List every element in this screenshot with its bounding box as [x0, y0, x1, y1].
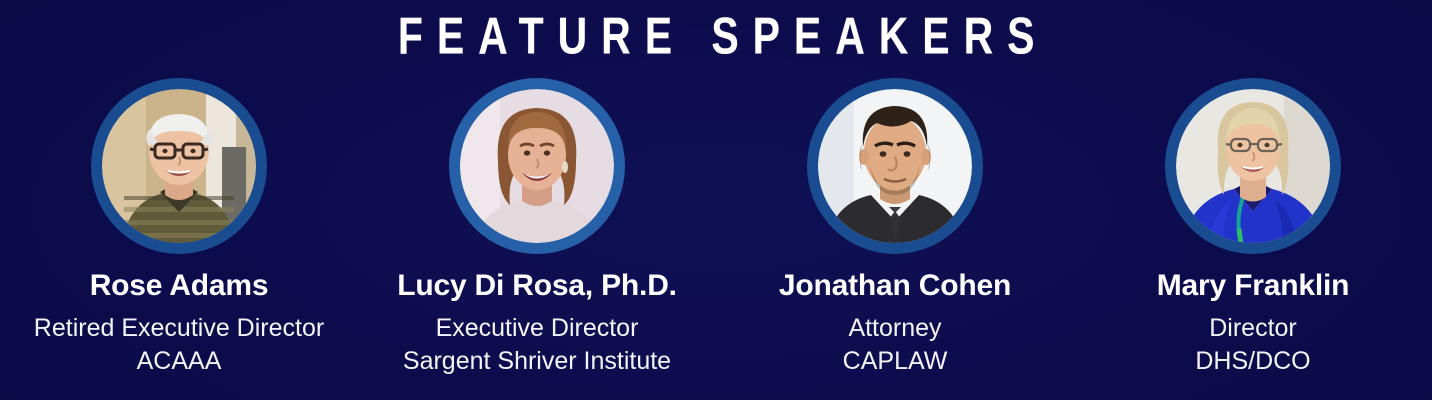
avatar-ring — [1165, 78, 1341, 254]
feature-speakers-banner: FEATURE SPEAKERS — [0, 0, 1432, 400]
speaker-text: Lucy Di Rosa, Ph.D. Executive Director S… — [358, 268, 716, 378]
speaker-role: Director — [1074, 312, 1432, 345]
page-title: FEATURE SPEAKERS — [384, 7, 1049, 65]
avatar-ring — [449, 78, 625, 254]
speaker-text: Jonathan Cohen Attorney CAPLAW — [716, 268, 1074, 378]
speaker-card: Lucy Di Rosa, Ph.D. Executive Director S… — [358, 78, 716, 378]
speaker-name: Mary Franklin — [1074, 268, 1432, 304]
speaker-text: Mary Franklin Director DHS/DCO — [1074, 268, 1432, 378]
portrait-lucy-di-rosa — [460, 89, 614, 243]
portrait-mary-franklin — [1176, 89, 1330, 243]
banner-title-row: FEATURE SPEAKERS — [0, 8, 1432, 64]
speaker-org: ACAAA — [0, 345, 358, 378]
speaker-card: Jonathan Cohen Attorney CAPLAW — [716, 78, 1074, 378]
speaker-org: Sargent Shriver Institute — [358, 345, 716, 378]
portrait-rose-adams — [102, 89, 256, 243]
speaker-card: Rose Adams Retired Executive Director AC… — [0, 78, 358, 378]
avatar-ring — [807, 78, 983, 254]
speaker-card: Mary Franklin Director DHS/DCO — [1074, 78, 1432, 378]
portrait-jonathan-cohen — [818, 89, 972, 243]
speaker-org: CAPLAW — [716, 345, 1074, 378]
speaker-name: Lucy Di Rosa, Ph.D. — [358, 268, 716, 304]
speaker-role: Executive Director — [358, 312, 716, 345]
avatar-ring — [91, 78, 267, 254]
speaker-name: Rose Adams — [0, 268, 358, 304]
speaker-role: Retired Executive Director — [0, 312, 358, 345]
speakers-list: Rose Adams Retired Executive Director AC… — [0, 78, 1432, 378]
speaker-text: Rose Adams Retired Executive Director AC… — [0, 268, 358, 378]
speaker-name: Jonathan Cohen — [716, 268, 1074, 304]
speaker-role: Attorney — [716, 312, 1074, 345]
speaker-org: DHS/DCO — [1074, 345, 1432, 378]
